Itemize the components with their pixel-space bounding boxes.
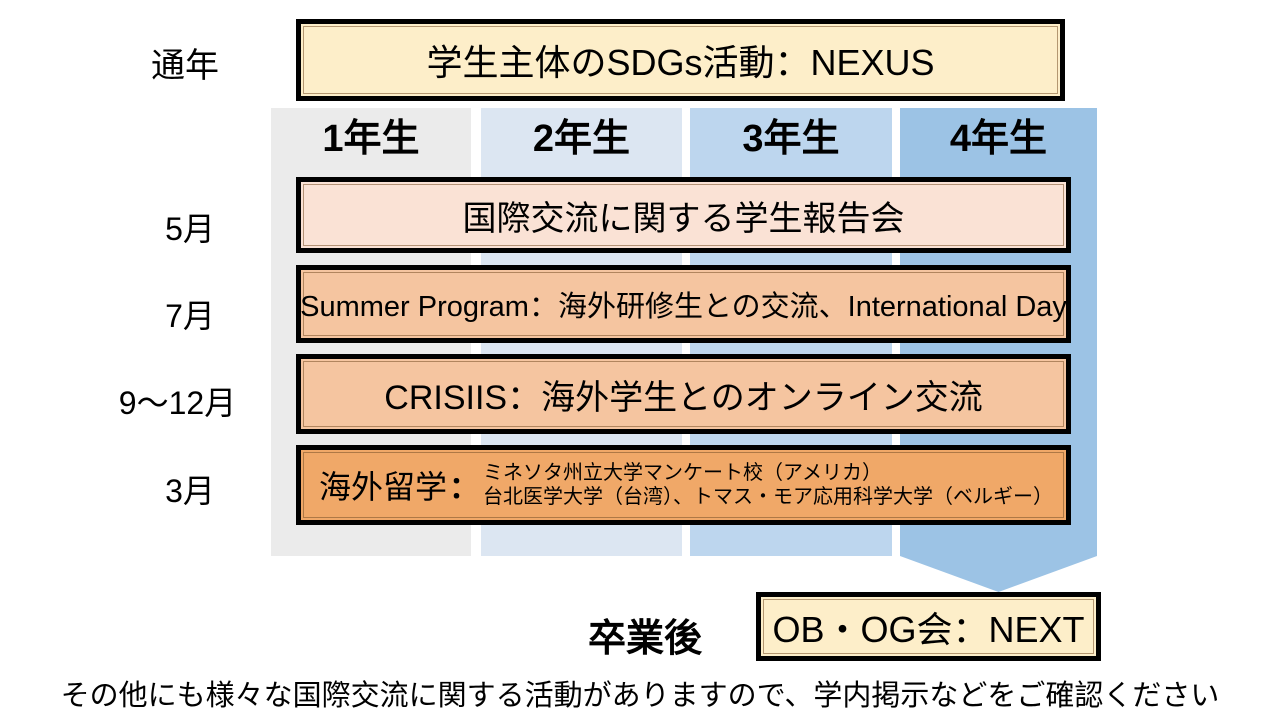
- month-label-march: 3月: [110, 466, 270, 512]
- study-abroad-university-1: ミネソタ州立大学マンケート校（アメリカ）: [483, 461, 1053, 485]
- summer-program-box: Summer Program：海外研修生との交流、International D…: [297, 266, 1070, 342]
- year-column-2-label: 2年生: [481, 108, 682, 170]
- year-column-3-label: 3年生: [690, 108, 892, 170]
- month-label-sept-dec: 9〜12月: [85, 378, 270, 424]
- summer-program-label: Summer Program：海外研修生との交流、International D…: [300, 283, 1067, 325]
- period-label-all-year: 通年: [100, 38, 270, 87]
- study-abroad-title: 海外留学: [319, 462, 447, 508]
- slide-canvas: 1年生 2年生 3年生 4年生 通年 学生主体のSDGs活動：NEXUS 5月 …: [0, 0, 1280, 720]
- ob-og-next-label: OB・OG会：NEXT: [772, 601, 1084, 653]
- study-abroad-box: 海外留学 ： ミネソタ州立大学マンケート校（アメリカ） 台北医学大学（台湾）、ト…: [297, 446, 1070, 524]
- footer-note: その他にも様々な国際交流に関する活動がありますので、学内掲示などをご確認ください: [0, 672, 1280, 714]
- nexus-activity-label: 学生主体のSDGs活動：NEXUS: [426, 34, 934, 86]
- down-arrow-icon: [900, 556, 1097, 592]
- crisiis-label: CRISIIS：海外学生とのオンライン交流: [384, 370, 982, 419]
- study-abroad-university-2: 台北医学大学（台湾）、トマス・モア応用科学大学（ベルギー）: [483, 485, 1053, 509]
- after-graduation-label: 卒業後: [588, 607, 702, 662]
- year-column-1-label: 1年生: [271, 108, 471, 170]
- nexus-activity-box: 学生主体のSDGs活動：NEXUS: [297, 20, 1064, 100]
- ob-og-next-box: OB・OG会：NEXT: [757, 593, 1100, 660]
- study-abroad-content: 海外留学 ： ミネソタ州立大学マンケート校（アメリカ） 台北医学大学（台湾）、ト…: [301, 461, 1066, 510]
- crisiis-box: CRISIIS：海外学生とのオンライン交流: [297, 355, 1070, 433]
- study-abroad-colon: ：: [449, 463, 479, 507]
- international-report-label: 国際交流に関する学生報告会: [463, 191, 905, 240]
- month-label-may: 5月: [110, 204, 270, 250]
- month-label-july: 7月: [110, 291, 270, 337]
- year-column-4-label: 4年生: [900, 108, 1097, 170]
- international-report-box: 国際交流に関する学生報告会: [297, 178, 1070, 252]
- study-abroad-university-list: ミネソタ州立大学マンケート校（アメリカ） 台北医学大学（台湾）、トマス・モア応用…: [483, 461, 1053, 510]
